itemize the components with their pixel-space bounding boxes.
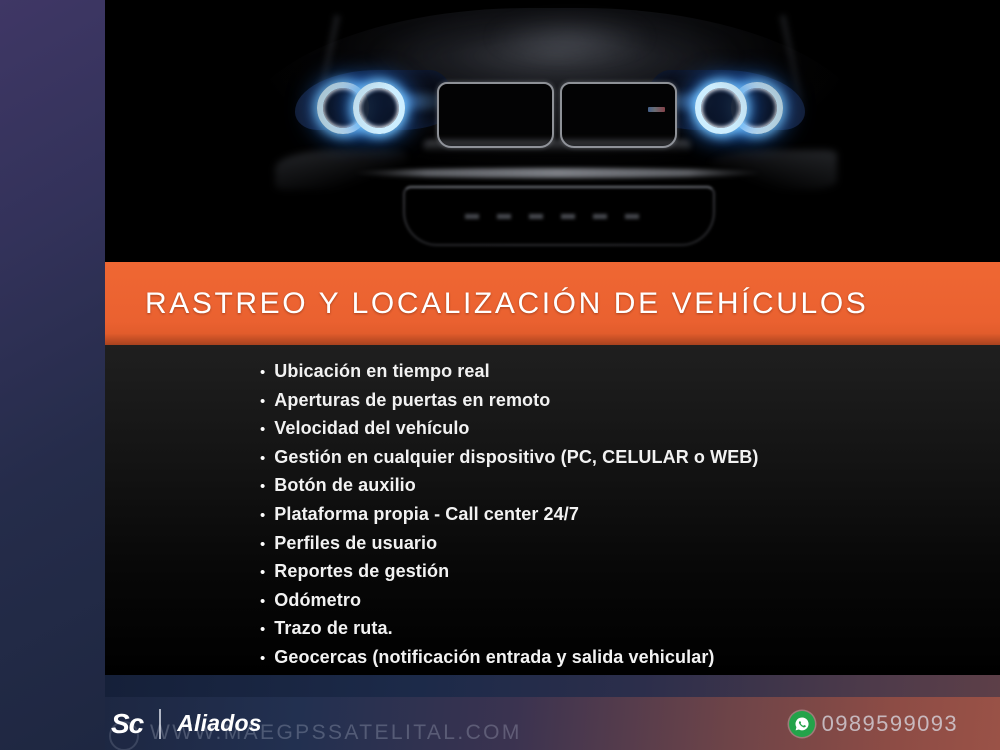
bullet-icon: • [260,651,265,666]
bullet-icon: • [260,565,265,580]
bullet-icon: • [260,622,265,637]
list-item: • Ubicación en tiempo real [260,361,1000,390]
headlight-left-icon [295,70,455,130]
phone-number[interactable]: 0989599093 [822,711,958,737]
feature-label: Aperturas de puertas en remoto [274,390,550,411]
footer-bar: WWW.MAEGPSSATELITAL.COM Sc Aliados 09895… [105,675,1000,750]
bullet-icon: • [260,479,265,494]
bullet-icon: • [260,594,265,609]
list-item: • Aperturas de puertas en remoto [260,390,1000,419]
logo-word: Aliados [177,710,261,737]
feature-label: Botón de auxilio [274,475,416,496]
content-panel: RASTREO Y LOCALIZACIÓN DE VEHÍCULOS • Ub… [105,0,1000,675]
bumper-vents [465,214,645,219]
bullet-icon: • [260,365,265,380]
list-item: • Velocidad del vehículo [260,418,1000,447]
kidney-grille [437,82,677,144]
feature-label: Odómetro [274,590,361,611]
bullet-icon: • [260,394,265,409]
list-item: • Geocercas (notificación entrada y sali… [260,647,1000,675]
m-badge-icon [648,107,665,112]
grille-underline [423,140,691,152]
bumper-lip [353,168,763,178]
title-banner: RASTREO Y LOCALIZACIÓN DE VEHÍCULOS [105,262,1000,345]
left-gradient-band [0,0,105,750]
list-item: • Gestión en cualquier dispositivo (PC, … [260,447,1000,476]
list-item: • Plataforma propia - Call center 24/7 [260,504,1000,533]
brand-logo: Sc Aliados [105,697,262,750]
feature-label: Perfiles de usuario [274,533,437,554]
grille-left [437,82,554,148]
bullet-icon: • [260,451,265,466]
list-item: • Trazo de ruta. [260,618,1000,647]
list-item: • Reportes de gestión [260,561,1000,590]
feature-label: Velocidad del vehículo [274,418,469,439]
feature-label: Plataforma propia - Call center 24/7 [274,504,579,525]
list-item: • Perfiles de usuario [260,533,1000,562]
halo-ring-outer [353,82,405,134]
footer-top-strip [105,675,1000,697]
feature-label: Reportes de gestión [274,561,449,582]
logo-mark: Sc [111,710,143,738]
feature-label: Trazo de ruta. [274,618,392,639]
slide-canvas: RASTREO Y LOCALIZACIÓN DE VEHÍCULOS • Ub… [0,0,1000,750]
feature-label: Gestión en cualquier dispositivo (PC, CE… [274,447,758,468]
page-title: RASTREO Y LOCALIZACIÓN DE VEHÍCULOS [145,287,868,321]
grille-right [560,82,677,148]
hero-car-image [105,0,1000,262]
list-item: • Botón de auxilio [260,475,1000,504]
bullet-icon: • [260,422,265,437]
halo-ring-outer [695,82,747,134]
features-list: • Ubicación en tiempo real • Aperturas d… [105,345,1000,675]
whatsapp-icon[interactable] [789,711,815,737]
bullet-icon: • [260,508,265,523]
feature-label: Ubicación en tiempo real [274,361,489,382]
logo-divider [159,709,161,739]
feature-label: Geocercas (notificación entrada y salida… [274,647,714,668]
list-item: • Odómetro [260,590,1000,619]
whatsapp-contact[interactable]: 0989599093 [789,697,958,750]
bullet-icon: • [260,537,265,552]
